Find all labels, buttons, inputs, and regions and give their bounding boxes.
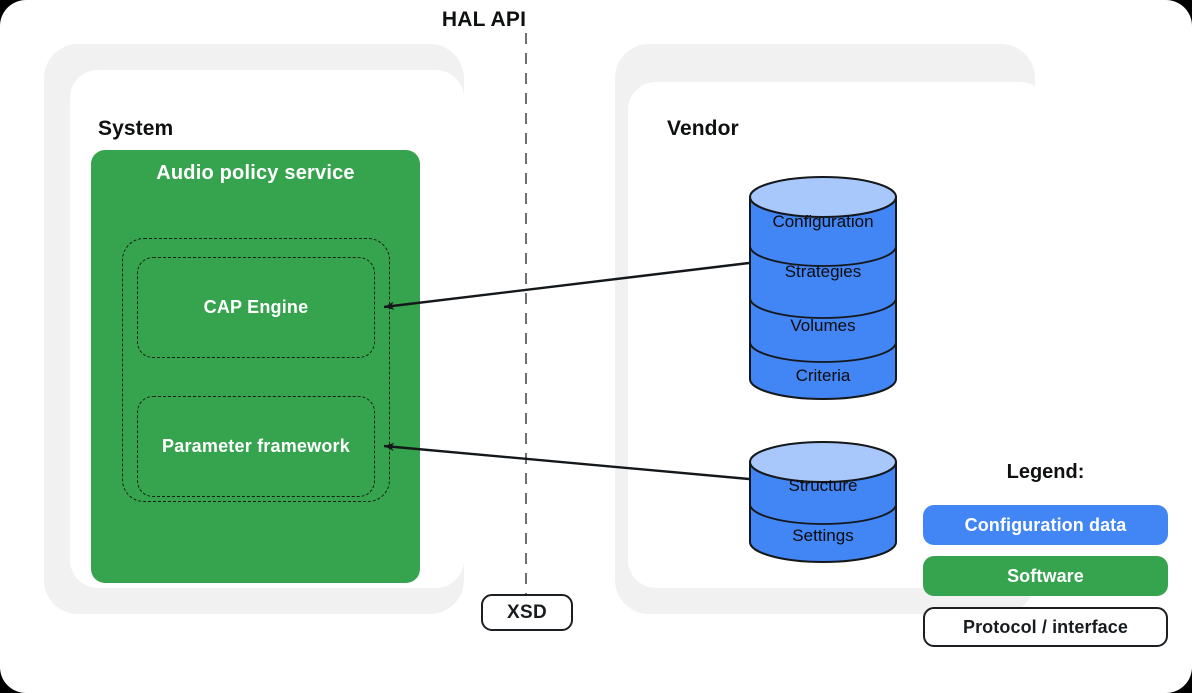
configuration-database-segment-label: Volumes <box>749 316 897 336</box>
configuration-database-segment-label: Configuration <box>749 212 897 232</box>
legend-item-protocol-interface[interactable]: Protocol / interface <box>923 607 1168 647</box>
legend-title: Legend: <box>923 461 1168 484</box>
legend-item-configuration-data[interactable]: Configuration data <box>923 505 1168 545</box>
parameter-framework-module[interactable]: Parameter framework <box>137 396 375 497</box>
parameter-database[interactable]: Structure Settings <box>749 441 897 563</box>
vendor-caption: Vendor <box>667 117 739 141</box>
audio-policy-service-title: Audio policy service <box>91 162 420 185</box>
configuration-database-segment-label: Criteria <box>749 366 897 386</box>
xsd-protocol-box[interactable]: XSD <box>481 594 573 631</box>
hal-api-label: HAL API <box>442 8 526 31</box>
parameter-database-segment-label: Structure <box>749 476 897 496</box>
system-caption: System <box>98 117 173 141</box>
diagram-canvas: HAL API System Audio policy service CAP … <box>0 0 1192 693</box>
configuration-database[interactable]: Configuration Strategies Volumes Criteri… <box>749 176 897 400</box>
cap-engine-module[interactable]: CAP Engine <box>137 257 375 358</box>
parameter-database-segment-label: Settings <box>749 526 897 546</box>
parameter-framework-label: Parameter framework <box>162 436 350 457</box>
legend-item-software[interactable]: Software <box>923 556 1168 596</box>
configuration-database-segment-label: Strategies <box>749 262 897 282</box>
cap-engine-label: CAP Engine <box>204 297 309 318</box>
page-title: HAL API <box>0 8 1192 32</box>
